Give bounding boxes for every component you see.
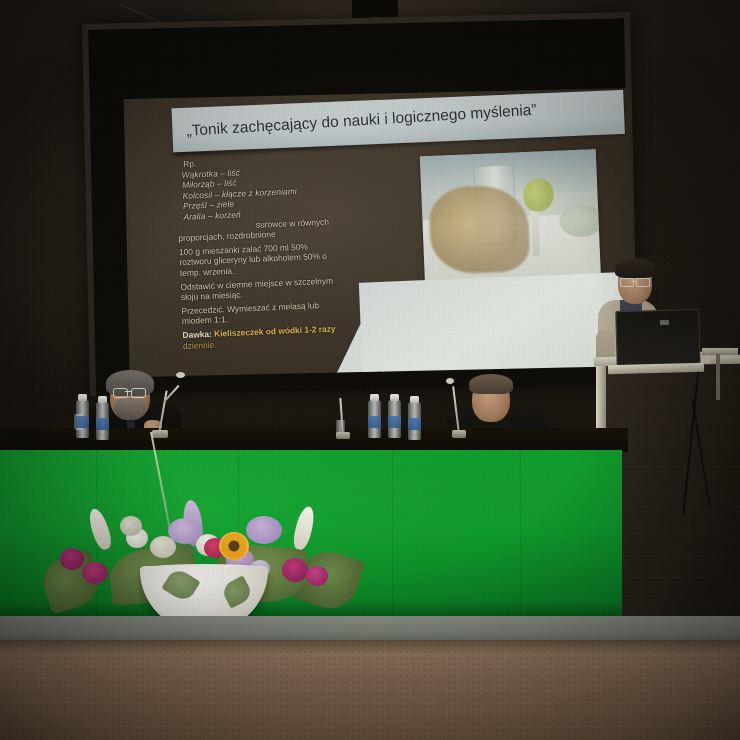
laptop-screen bbox=[615, 309, 701, 371]
microphone-base bbox=[452, 430, 466, 438]
water-bottle bbox=[388, 400, 401, 438]
bottle-label bbox=[368, 416, 381, 428]
magenta-flower bbox=[82, 562, 108, 584]
presentation-slide: „Tonik zachęcający do nauki i logicznego… bbox=[124, 88, 636, 377]
bottle-label bbox=[76, 416, 89, 428]
bottle-label bbox=[388, 416, 401, 428]
water-bottle bbox=[76, 400, 89, 438]
seated-left-beard bbox=[114, 398, 146, 420]
skirt-fold bbox=[520, 450, 521, 622]
microphone-base bbox=[336, 432, 350, 439]
dose-label: Dawka: bbox=[182, 329, 212, 340]
seated-right-hair bbox=[469, 374, 513, 394]
cream-flower bbox=[120, 516, 142, 536]
microphone-head bbox=[446, 378, 454, 384]
bottle-label bbox=[408, 418, 421, 430]
stage-texture bbox=[0, 640, 740, 740]
magenta-flower bbox=[60, 548, 84, 570]
conference-photo: „Tonik zachęcający do nauki i logicznego… bbox=[0, 0, 740, 740]
microphone-base bbox=[152, 430, 168, 438]
stage-edge-shadow bbox=[0, 640, 740, 654]
seated-left-glasses-bridge bbox=[125, 391, 132, 392]
sunflower bbox=[219, 532, 249, 560]
magenta-flower bbox=[306, 566, 328, 586]
bottle-cap bbox=[78, 394, 87, 401]
monitor-stand bbox=[702, 348, 738, 355]
seated-left-glasses-left bbox=[113, 388, 128, 398]
bottle-cap bbox=[410, 396, 419, 403]
bottle-label bbox=[96, 418, 109, 430]
microphone-head bbox=[176, 372, 185, 378]
skirt-fold bbox=[392, 450, 393, 622]
bottle-cap bbox=[98, 396, 107, 403]
slide-photo bbox=[420, 149, 601, 280]
bottle-cap bbox=[370, 394, 379, 401]
purple-flower bbox=[168, 518, 202, 544]
speaker-glasses-left bbox=[620, 278, 634, 287]
projection-screen: „Tonik zachęcający do nauki i logicznego… bbox=[82, 12, 638, 396]
laptop-logo bbox=[660, 320, 669, 325]
monitor-pole bbox=[716, 354, 720, 400]
speaker-glasses-right bbox=[636, 278, 650, 287]
bottle-cap bbox=[390, 394, 399, 401]
purple-flower bbox=[246, 516, 282, 544]
magenta-flower bbox=[282, 558, 308, 582]
water-bottle bbox=[368, 400, 381, 438]
photo-haze bbox=[420, 149, 601, 280]
seated-left-glasses-right bbox=[131, 388, 146, 398]
water-bottle bbox=[408, 402, 421, 440]
water-bottle bbox=[96, 402, 109, 440]
speaker-hair bbox=[615, 258, 655, 278]
speaker-glasses-bridge bbox=[631, 281, 637, 282]
stage-front bbox=[0, 640, 740, 740]
screen-surface: „Tonik zachęcający do nauki i logicznego… bbox=[88, 18, 632, 396]
table-top bbox=[0, 428, 628, 452]
